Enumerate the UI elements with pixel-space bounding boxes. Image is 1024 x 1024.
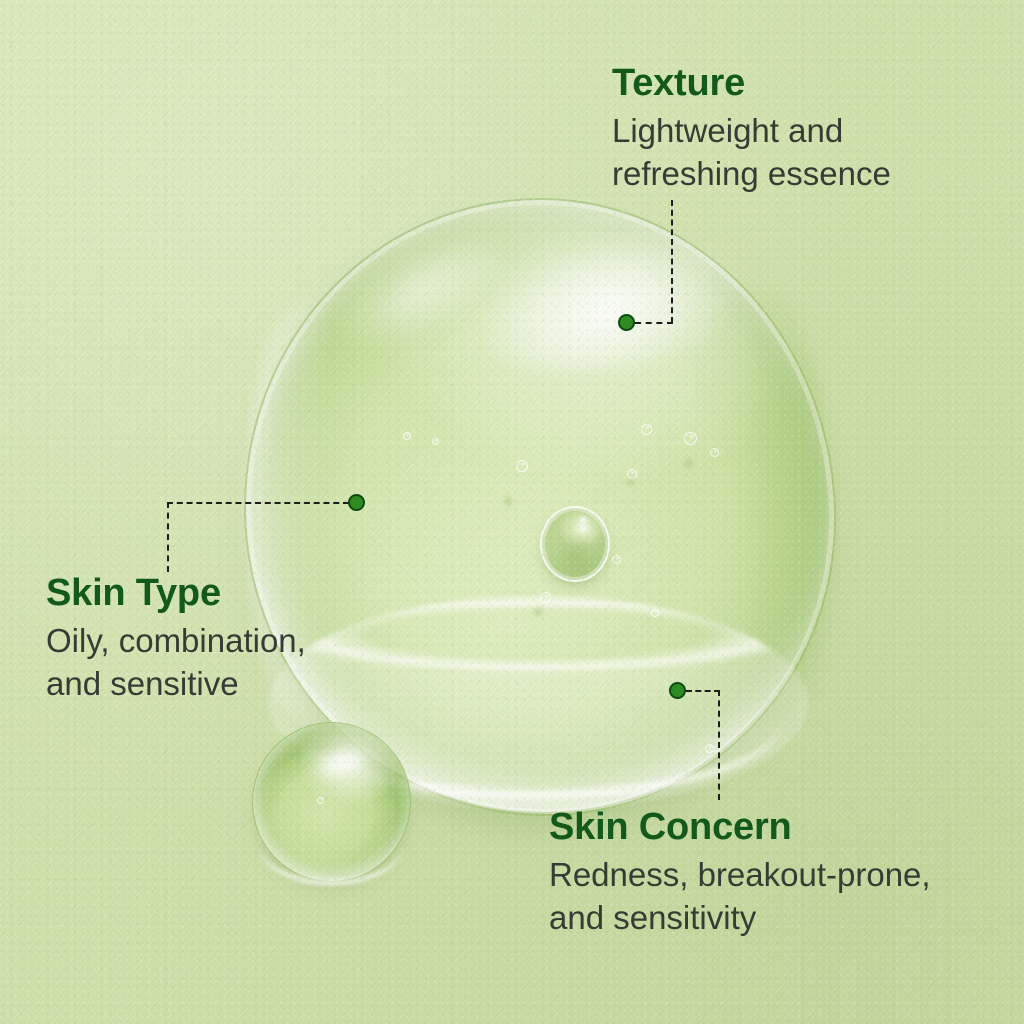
micro-bubble [684, 432, 697, 445]
micro-bubble [540, 592, 551, 603]
marker-dot-skin-type[interactable] [348, 494, 365, 511]
callout-skin-type: Skin Type Oily, combination, and sensiti… [46, 574, 406, 706]
leader-line-skin-concern-vertical [718, 690, 720, 800]
leader-line-texture-vertical [671, 200, 673, 323]
leader-line-skin-type-horizontal [167, 502, 349, 504]
marker-dot-skin-concern[interactable] [669, 682, 686, 699]
micro-bubble [651, 609, 659, 617]
callout-skin-type-description: Oily, combination, and sensitive [46, 620, 406, 706]
callout-skin-concern-description: Redness, breakout-prone, and sensitivity [549, 854, 1019, 940]
micro-bubble-shadow [530, 604, 546, 620]
micro-bubble-shadow [680, 455, 697, 472]
small-droplet-rim-highlight [258, 800, 404, 886]
micro-bubble [710, 448, 719, 457]
micro-bubble-shadow [500, 493, 516, 509]
micro-bubble [432, 438, 439, 445]
callout-texture-title: Texture [612, 64, 1012, 104]
micro-bubble [403, 432, 411, 440]
micro-bubble [612, 555, 621, 564]
leader-line-skin-type-vertical [167, 502, 169, 572]
callout-skin-type-title: Skin Type [46, 574, 406, 614]
micro-bubble [705, 744, 714, 753]
micro-bubble [516, 460, 528, 472]
micro-bubble [317, 797, 324, 804]
callout-skin-concern: Skin Concern Redness, breakout-prone, an… [549, 808, 1019, 940]
scene-canvas: Texture Lightweight and refreshing essen… [0, 0, 1024, 1024]
leader-line-skin-concern-horizontal [686, 690, 720, 692]
callout-skin-concern-title: Skin Concern [549, 808, 1019, 848]
center-bubble-specular-highlight [574, 512, 592, 528]
micro-bubble [641, 424, 652, 435]
callout-texture: Texture Lightweight and refreshing essen… [612, 64, 1012, 196]
marker-dot-texture[interactable] [618, 314, 635, 331]
callout-texture-description: Lightweight and refreshing essence [612, 110, 1012, 196]
leader-line-texture-horizontal [635, 322, 673, 324]
micro-bubble-shadow [624, 475, 638, 489]
